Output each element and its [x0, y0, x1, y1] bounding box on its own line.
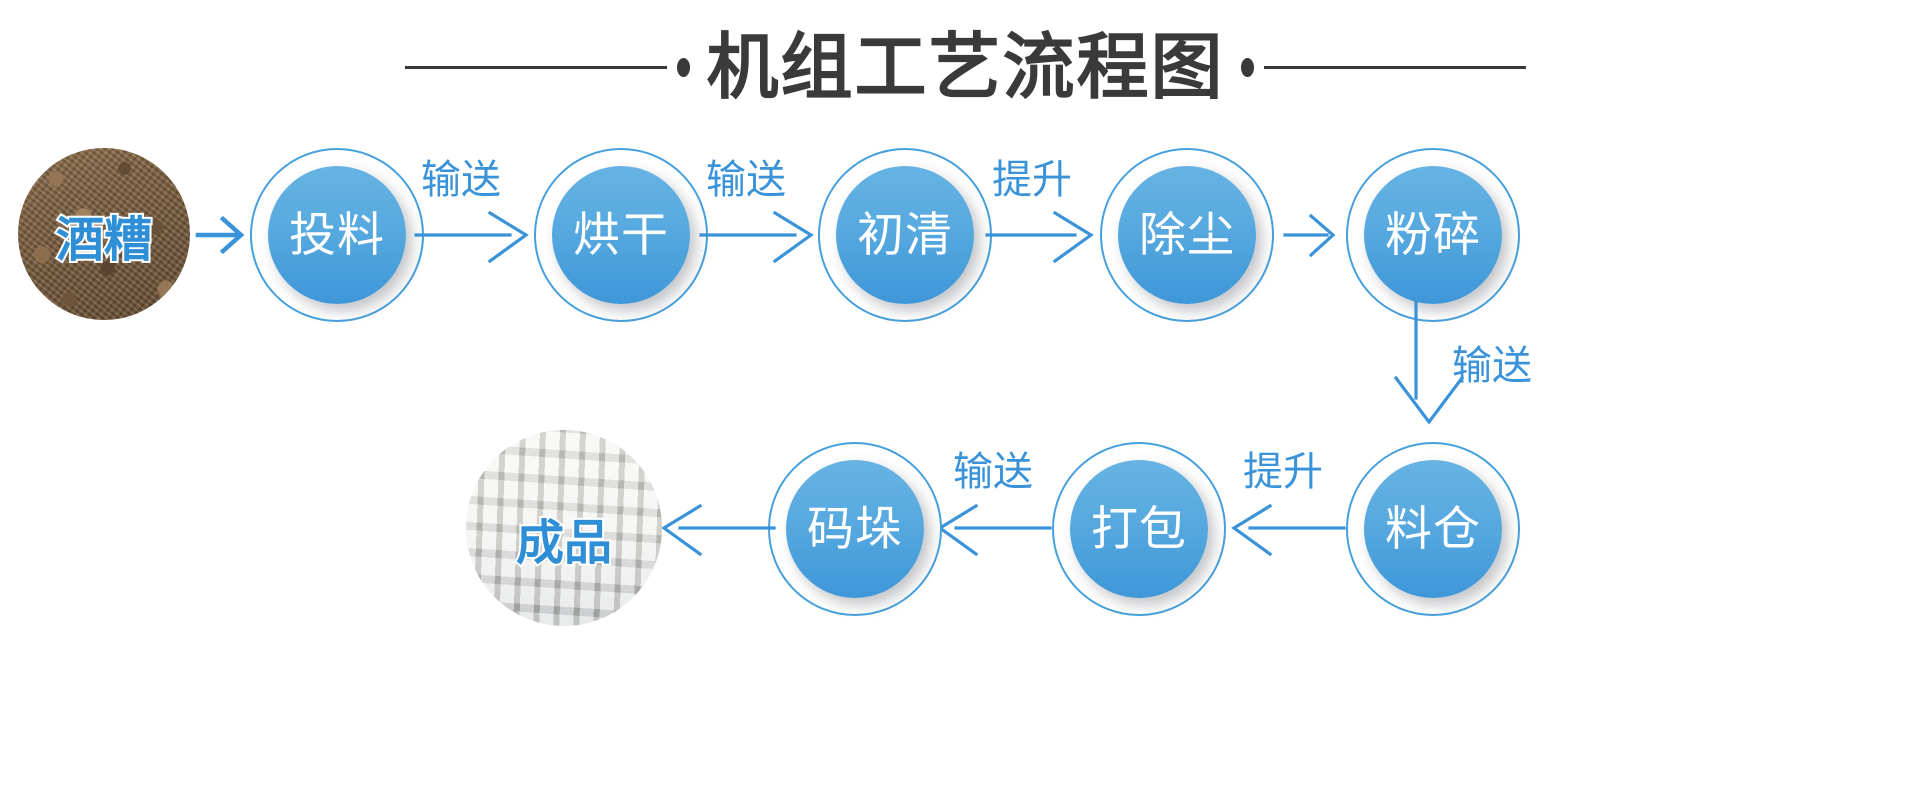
- arrow-fensui-to-liaocang: [1394, 300, 1464, 440]
- node-honggan[interactable]: 烘干: [534, 148, 708, 322]
- arrow-chuqing-to-chuchen: [985, 205, 1107, 271]
- edge-label-liaocang-dabao: 提升: [1243, 452, 1323, 492]
- node-chuchen-disc: 除尘: [1118, 166, 1256, 304]
- arrow-honggan-to-chuqing: [699, 205, 827, 271]
- node-honggan-label: 烘干: [573, 212, 669, 259]
- output-photo-stacked-bags: 成品: [466, 430, 662, 626]
- node-fensui[interactable]: 粉碎: [1346, 148, 1520, 322]
- node-chuqing-disc: 初清: [836, 166, 974, 304]
- page-title: 机组工艺流程图: [700, 31, 1230, 103]
- node-touliao-disc: 投料: [268, 166, 406, 304]
- output-photo-label: 成品: [466, 503, 662, 573]
- title-rule-left: [405, 66, 667, 69]
- edge-label-dabao-maduo: 输送: [953, 452, 1033, 492]
- node-chuchen[interactable]: 除尘: [1100, 148, 1274, 322]
- node-liaocang[interactable]: 料仓: [1346, 442, 1520, 616]
- node-liaocang-label: 料仓: [1385, 506, 1481, 553]
- node-dabao-disc: 打包: [1070, 460, 1208, 598]
- input-photo-distillers-grain: 酒糟: [18, 148, 190, 320]
- node-touliao[interactable]: 投料: [250, 148, 424, 322]
- node-maduo-disc: 码垛: [786, 460, 924, 598]
- edge-label-chuqing-chuchen: 提升: [992, 160, 1072, 200]
- arrow-chuchen-to-fensui: [1283, 208, 1347, 266]
- title-dot-right-icon: [1241, 58, 1254, 77]
- arrow-liaocang-to-dabao: [1222, 498, 1346, 564]
- node-honggan-disc: 烘干: [552, 166, 690, 304]
- arrow-maduo-to-chengpin: [652, 498, 776, 564]
- node-maduo[interactable]: 码垛: [768, 442, 942, 616]
- node-maduo-label: 码垛: [807, 506, 903, 553]
- node-liaocang-disc: 料仓: [1364, 460, 1502, 598]
- node-dabao-label: 打包: [1091, 506, 1187, 553]
- page-title-bar: 机组工艺流程图: [0, 22, 1931, 112]
- arrow-touliao-to-honggan: [414, 205, 542, 271]
- input-photo-label: 酒糟: [18, 200, 190, 270]
- node-touliao-label: 投料: [289, 212, 385, 259]
- node-fensui-disc: 粉碎: [1364, 166, 1502, 304]
- edge-label-touliao-honggan: 输送: [421, 160, 501, 200]
- node-chuchen-label: 除尘: [1139, 212, 1235, 259]
- title-dot-left-icon: [677, 58, 690, 77]
- edge-label-fensui-liaocang: 输送: [1452, 346, 1532, 386]
- node-fensui-label: 粉碎: [1385, 212, 1481, 259]
- node-chuqing-label: 初清: [857, 212, 953, 259]
- title-rule-right: [1264, 66, 1526, 69]
- node-chuqing[interactable]: 初清: [818, 148, 992, 322]
- node-dabao[interactable]: 打包: [1052, 442, 1226, 616]
- arrow-dabao-to-maduo: [928, 498, 1052, 564]
- edge-label-honggan-chuqing: 输送: [706, 160, 786, 200]
- arrow-raw-to-touliao: [196, 212, 254, 258]
